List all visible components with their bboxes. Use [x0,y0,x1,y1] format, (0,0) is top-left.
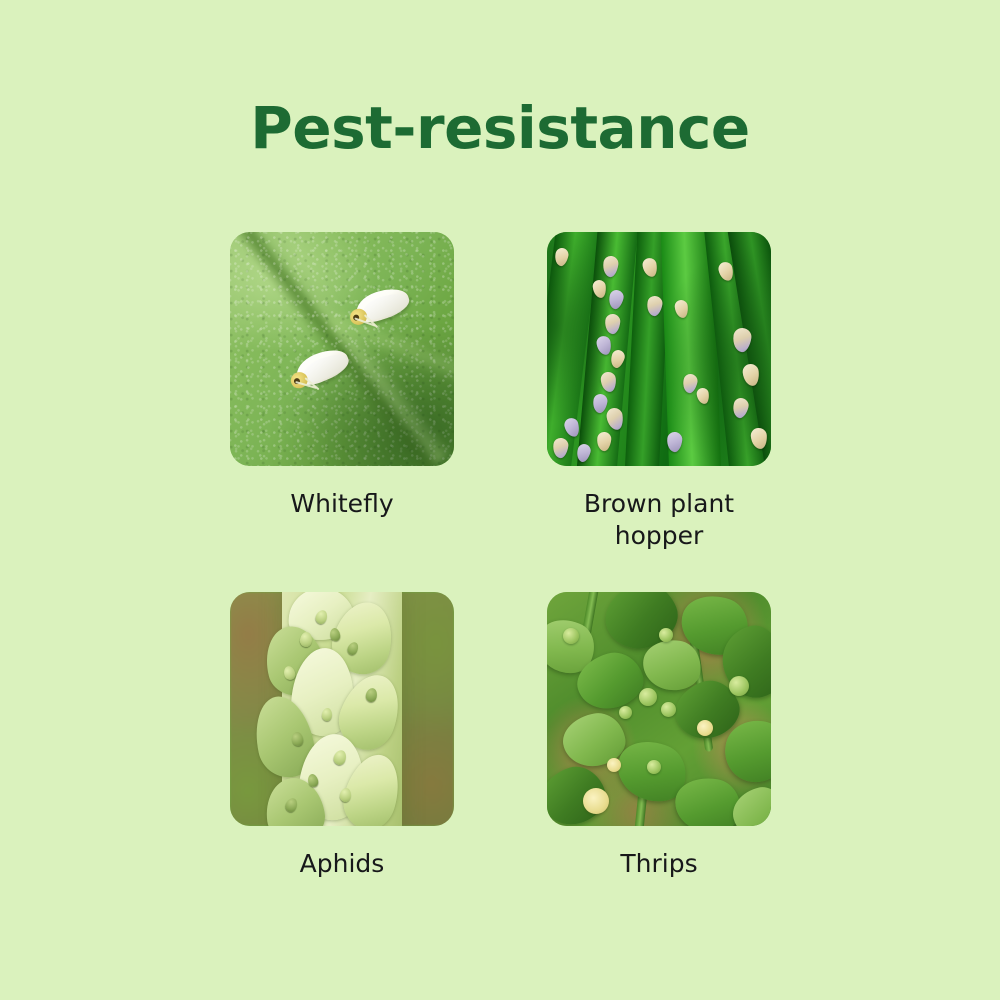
pest-grid: Whitefly [230,232,772,892]
pest-label-thrips: Thrips [547,848,771,880]
pest-card-whitefly[interactable]: Whitefly [230,232,454,520]
pest-card-brown-plant-hopper[interactable]: Brown plant hopper [547,232,771,552]
plant-bud [659,628,673,642]
page-title: Pest-resistance [0,98,1000,159]
pest-card-thrips[interactable]: Thrips [547,592,771,880]
pest-photo-aphids[interactable] [230,592,454,826]
pest-card-aphids[interactable]: Aphids [230,592,454,880]
brown-plant-hopper-illustration [547,232,771,466]
pest-photo-whitefly[interactable] [230,232,454,466]
thrips-illustration [547,592,771,826]
pest-photo-thrips[interactable] [547,592,771,826]
plant-bud [639,688,657,706]
whitefly-illustration [230,232,454,466]
plant-bud [729,676,749,696]
pest-label-brown-plant-hopper: Brown plant hopper [547,488,771,552]
aphids-illustration [230,592,454,826]
pest-label-aphids: Aphids [230,848,454,880]
plant-bud [619,706,632,719]
plant-flower [697,720,713,736]
plant-flower [607,758,621,772]
plant-bud [563,628,579,644]
plant-bud [661,702,676,717]
pest-resistance-poster: Pest-resistance [0,0,1000,1000]
pest-photo-brown-plant-hopper[interactable] [547,232,771,466]
pest-label-whitefly: Whitefly [230,488,454,520]
plant-bud [647,760,661,774]
plant-flower [583,788,609,814]
